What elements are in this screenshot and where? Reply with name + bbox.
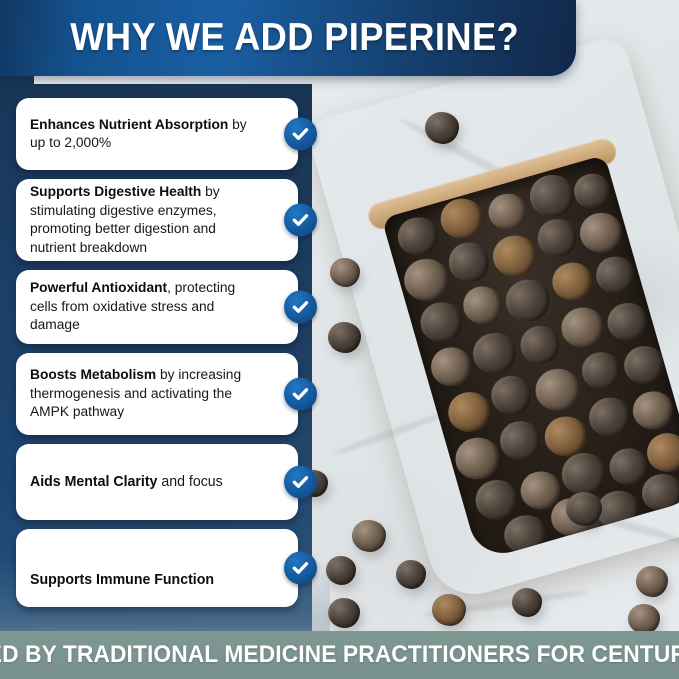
check-circle-icon [284,291,317,324]
benefit-text: Supports Digestive Health by stimulating… [30,183,251,257]
benefit-text: Enhances Nutrient Absorption by up to 2,… [30,116,251,153]
piperine-benefits-infographic: WHY WE ADD PIPERINE? Enhances Nutrient A… [0,0,679,679]
footer-banner: USED BY TRADITIONAL MEDICINE PRACTITIONE… [0,631,679,679]
benefit-text: Supports Immune Function [30,571,251,590]
benefit-card[interactable]: Enhances Nutrient Absorption by up to 2,… [16,98,298,170]
benefit-lead: Supports Immune Function [30,572,214,588]
benefit-lead: Boosts Metabolism [30,367,156,383]
check-circle-icon [284,118,317,151]
benefit-card[interactable]: Supports Digestive Health by stimulating… [16,179,298,261]
check-circle-icon [284,204,317,237]
benefit-card-list: Enhances Nutrient Absorption by up to 2,… [16,98,312,616]
check-circle-icon [284,378,317,411]
benefit-text: Powerful Antioxidant, protecting cells f… [30,279,251,335]
benefit-card[interactable]: Powerful Antioxidant, protecting cells f… [16,270,298,344]
footer-tagline: USED BY TRADITIONAL MEDICINE PRACTITIONE… [0,641,679,669]
check-circle-icon [284,466,317,499]
benefit-lead: Aids Mental Clarity [30,474,157,490]
benefit-card[interactable]: Boosts Metabolism by increasing thermoge… [16,353,298,435]
benefit-lead: Enhances Nutrient Absorption [30,117,228,133]
benefit-card[interactable]: Aids Mental Clarity and focus [16,444,298,520]
benefit-text: Boosts Metabolism by increasing thermoge… [30,366,251,422]
benefit-text: Aids Mental Clarity and focus [30,473,251,492]
check-circle-icon [284,552,317,585]
benefit-rest: and focus [161,474,222,490]
scoop-peppercorn-fill [382,155,679,561]
wooden-scoop [305,33,679,605]
benefit-card[interactable]: Supports Immune Function [16,529,298,607]
benefit-lead: Powerful Antioxidant [30,280,167,296]
benefit-lead: Supports Digestive Health [30,184,201,200]
page-title: WHY WE ADD PIPERINE? [27,16,519,60]
header-banner: WHY WE ADD PIPERINE? [0,0,576,76]
